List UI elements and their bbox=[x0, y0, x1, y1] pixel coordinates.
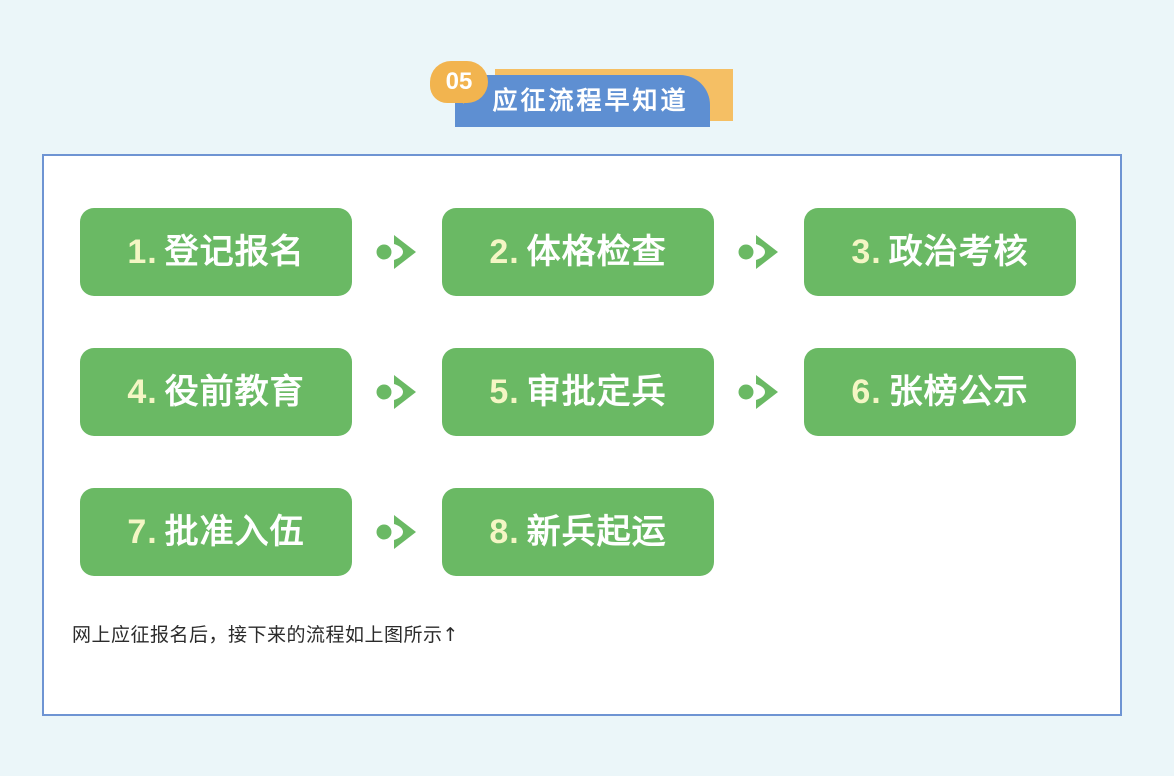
section-banner: 应征流程早知道 05 bbox=[455, 75, 733, 127]
flow-row: 1. 登记报名 2. 体格检查 bbox=[80, 202, 1090, 302]
flow-step-4-label: 4. 役前教育 bbox=[127, 375, 304, 409]
flow-caption: 网上应征报名后，接下来的流程如上图所示↑ bbox=[72, 622, 459, 649]
flow-step-8-number: 8. bbox=[489, 515, 519, 549]
flow-step-4-number: 4. bbox=[127, 375, 157, 409]
flow-step-1-number: 1. bbox=[127, 235, 157, 269]
flow-step-2-text: 体格检查 bbox=[527, 235, 667, 269]
arrow-right-icon bbox=[352, 235, 442, 269]
flow-step-5[interactable]: 5. 审批定兵 bbox=[442, 348, 714, 436]
flow-step-1-label: 1. 登记报名 bbox=[127, 235, 304, 269]
flow-step-7[interactable]: 7. 批准入伍 bbox=[80, 488, 352, 576]
arrow-right-icon bbox=[352, 515, 442, 549]
flow-step-3-number: 3. bbox=[851, 235, 881, 269]
banner-blue-block: 应征流程早知道 bbox=[455, 75, 710, 127]
flow-step-8-label: 8. 新兵起运 bbox=[489, 515, 666, 549]
arrow-right-icon bbox=[352, 375, 442, 409]
flow-step-2[interactable]: 2. 体格检查 bbox=[442, 208, 714, 296]
section-number-badge: 05 bbox=[430, 61, 488, 107]
arrow-right-icon bbox=[714, 235, 804, 269]
flow-step-6-text: 张榜公示 bbox=[889, 375, 1029, 409]
flow-step-2-label: 2. 体格检查 bbox=[489, 235, 666, 269]
flow-step-5-label: 5. 审批定兵 bbox=[489, 375, 666, 409]
flow-step-8[interactable]: 8. 新兵起运 bbox=[442, 488, 714, 576]
flow-step-6-number: 6. bbox=[851, 375, 881, 409]
flow-step-6[interactable]: 6. 张榜公示 bbox=[804, 348, 1076, 436]
flow-step-1-text: 登记报名 bbox=[165, 235, 305, 269]
flow-step-5-number: 5. bbox=[489, 375, 519, 409]
flow-step-3-label: 3. 政治考核 bbox=[851, 235, 1028, 269]
flow-row: 4. 役前教育 5. 审批定兵 bbox=[80, 342, 1090, 442]
arrow-right-icon bbox=[714, 375, 804, 409]
flow-step-4-text: 役前教育 bbox=[165, 375, 305, 409]
flow-step-8-text: 新兵起运 bbox=[527, 515, 667, 549]
flow-step-6-label: 6. 张榜公示 bbox=[851, 375, 1028, 409]
flow-step-3[interactable]: 3. 政治考核 bbox=[804, 208, 1076, 296]
flow-step-7-number: 7. bbox=[127, 515, 157, 549]
header: 应征流程早知道 05 bbox=[0, 0, 1174, 140]
badge-number: 05 bbox=[446, 70, 473, 94]
flow-row: 7. 批准入伍 8. 新兵起运 bbox=[80, 482, 1090, 582]
flow-step-2-number: 2. bbox=[489, 235, 519, 269]
flow-step-4[interactable]: 4. 役前教育 bbox=[80, 348, 352, 436]
flow-step-5-text: 审批定兵 bbox=[527, 375, 667, 409]
flow-step-3-text: 政治考核 bbox=[889, 235, 1029, 269]
flow-step-1[interactable]: 1. 登记报名 bbox=[80, 208, 352, 296]
flow-step-7-label: 7. 批准入伍 bbox=[127, 515, 304, 549]
flow-card: 1. 登记报名 2. 体格检查 bbox=[42, 154, 1122, 716]
flow-diagram: 1. 登记报名 2. 体格检查 bbox=[80, 202, 1090, 582]
page-title: 应征流程早知道 bbox=[470, 89, 694, 114]
flow-step-7-text: 批准入伍 bbox=[165, 515, 305, 549]
badge-body: 05 bbox=[430, 61, 488, 103]
